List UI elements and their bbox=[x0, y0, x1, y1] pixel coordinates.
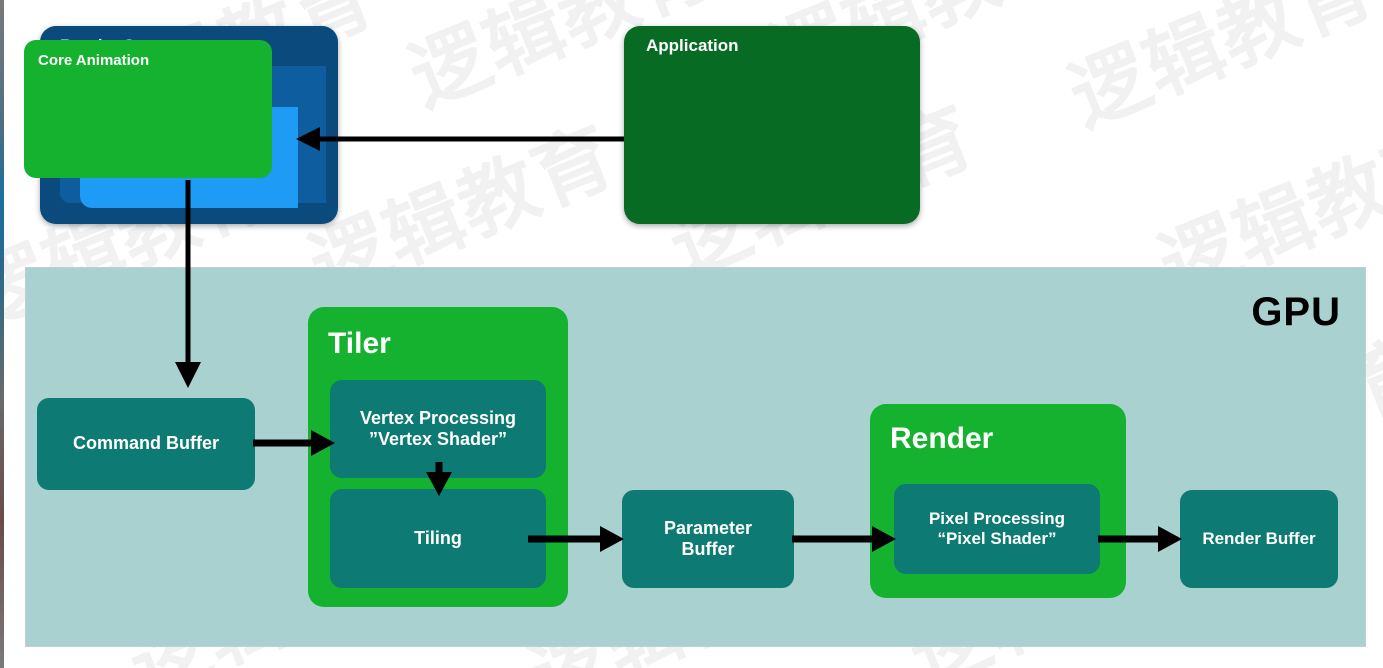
arrow-command-buffer-to-vertex-processing bbox=[253, 430, 339, 456]
tiler-title: Tiler bbox=[328, 327, 391, 361]
watermark-text: 逻辑教育 bbox=[1051, 0, 1383, 148]
application-box: Application bbox=[624, 26, 920, 224]
arrow-pixel-processing-to-render-buffer bbox=[1098, 526, 1186, 552]
render-buffer-box: Render Buffer bbox=[1180, 490, 1338, 588]
diagram-canvas: 逻辑教育 逻辑教育 逻辑教育 逻辑教育 逻辑教育 逻辑教育 逻辑教育 逻辑教育 … bbox=[0, 0, 1383, 668]
arrow-tiling-to-parameter-buffer bbox=[528, 526, 628, 552]
gpu-panel-label: GPU bbox=[1251, 290, 1341, 335]
vertex-processing-line1: Vertex Processing bbox=[360, 408, 516, 428]
left-edge-strip bbox=[0, 0, 4, 668]
pixel-processing-box: Pixel Processing “Pixel Shader” bbox=[894, 484, 1100, 574]
pixel-processing-line1: Pixel Processing bbox=[929, 509, 1065, 528]
parameter-buffer-box: Parameter Buffer bbox=[622, 490, 794, 588]
parameter-buffer-line2: Buffer bbox=[682, 539, 735, 559]
application-core-animation-box: Core Animation bbox=[24, 40, 272, 178]
application-core-animation-title: Core Animation bbox=[38, 52, 149, 69]
command-buffer-label: Command Buffer bbox=[73, 433, 219, 454]
parameter-buffer-line1: Parameter bbox=[664, 518, 752, 538]
command-buffer-box: Command Buffer bbox=[37, 398, 255, 490]
vertex-processing-line2: ”Vertex Shader” bbox=[369, 429, 507, 449]
tiling-label: Tiling bbox=[414, 528, 462, 549]
application-title: Application bbox=[646, 36, 739, 56]
arrow-parameter-buffer-to-pixel-processing bbox=[792, 526, 900, 552]
arrow-vertex-processing-to-tiling bbox=[424, 462, 454, 498]
render-buffer-label: Render Buffer bbox=[1202, 529, 1315, 549]
pixel-processing-line2: “Pixel Shader” bbox=[937, 529, 1056, 548]
arrow-opengl-to-command-buffer bbox=[172, 180, 204, 392]
arrow-application-to-opengl bbox=[290, 126, 630, 152]
render-group-title: Render bbox=[890, 422, 993, 456]
tiling-box: Tiling bbox=[330, 489, 546, 588]
